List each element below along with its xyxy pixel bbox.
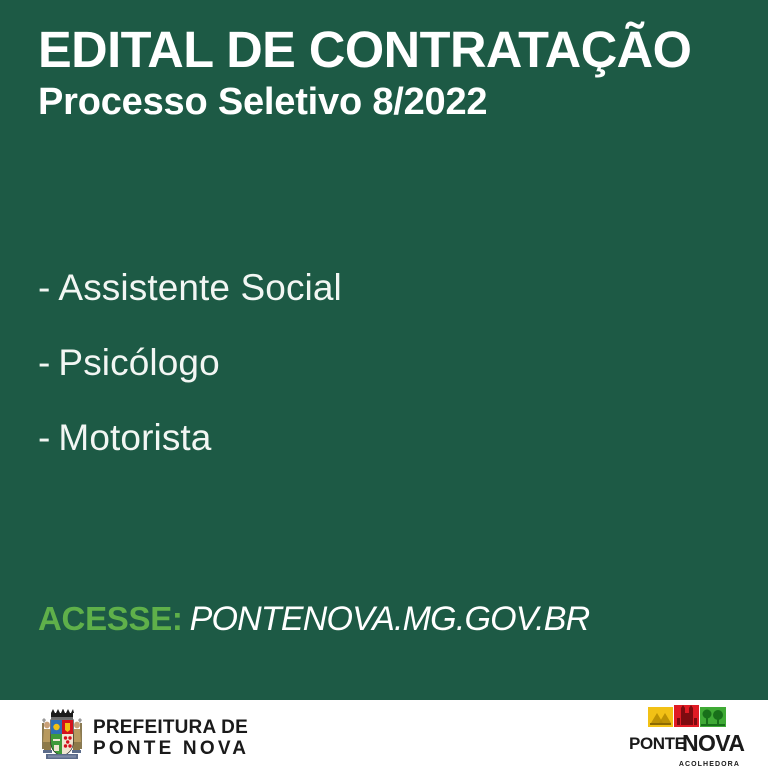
prefeitura-wordmark: PREFEITURA DE PONTE NOVA — [93, 718, 249, 758]
page-title: EDITAL DE CONTRATAÇÃO — [38, 22, 731, 78]
job-positions-list: -Assistente Social -Psicólogo -Motorista — [38, 264, 698, 462]
prefeitura-line2: PONTE NOVA — [93, 739, 249, 758]
footer-bar: PREFEITURA DE PONTE NOVA — [0, 700, 768, 768]
access-label: ACESSE: — [38, 600, 183, 637]
ponte-nova-tagline: ACOLHEDORA — [628, 761, 746, 768]
list-item-label: Assistente Social — [58, 267, 341, 308]
list-item-label: Psicólogo — [58, 342, 219, 383]
list-bullet-dash: - — [38, 339, 50, 387]
website-url[interactable]: PONTENOVA.MG.GOV.BR — [190, 600, 590, 638]
website-callout: ACESSE:PONTENOVA.MG.GOV.BR — [38, 600, 589, 639]
header: EDITAL DE CONTRATAÇÃO Processo Seletivo … — [38, 22, 738, 124]
list-item: -Psicólogo — [38, 339, 698, 387]
poster-canvas: EDITAL DE CONTRATAÇÃO Processo Seletivo … — [0, 0, 768, 768]
ponte-nova-logo: PONTE NOVA ACOLHEDORA — [628, 705, 746, 768]
list-item-label: Motorista — [58, 417, 211, 458]
ponte-nova-blocks-icon — [628, 705, 746, 729]
ponte-nova-word-ponte: PONTE — [629, 734, 686, 753]
ponte-nova-wordmark: PONTE NOVA — [628, 730, 746, 761]
list-bullet-dash: - — [38, 264, 50, 312]
ponte-nova-word-nova: NOVA — [682, 730, 744, 756]
coat-of-arms-icon — [38, 709, 86, 766]
page-subtitle: Processo Seletivo 8/2022 — [38, 80, 738, 124]
list-item: -Motorista — [38, 414, 698, 462]
list-bullet-dash: - — [38, 414, 50, 462]
list-item: -Assistente Social — [38, 264, 698, 312]
prefeitura-line1: PREFEITURA DE — [93, 718, 249, 737]
prefeitura-logo: PREFEITURA DE PONTE NOVA — [38, 709, 249, 766]
